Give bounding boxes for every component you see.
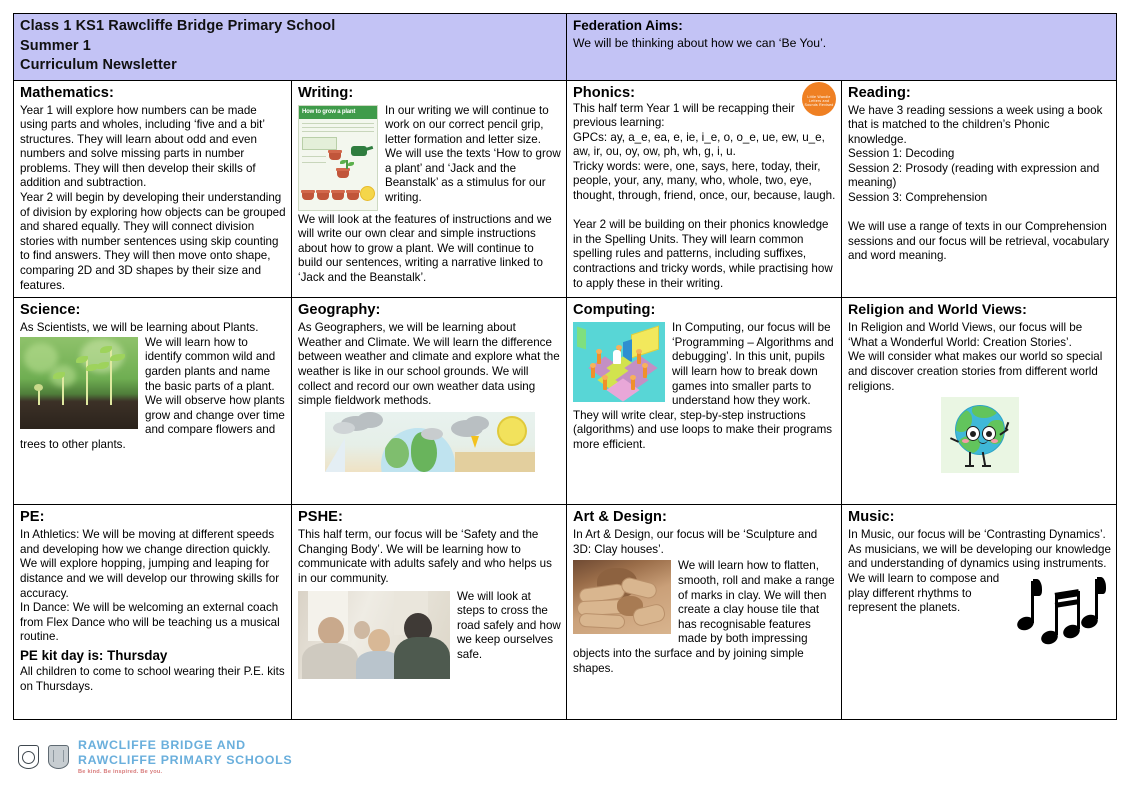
art-title: Art & Design:: [573, 508, 836, 527]
geography-title: Geography:: [298, 301, 561, 320]
page-title-line-3: Curriculum Newsletter: [20, 56, 561, 76]
logo-line-1: RAWCLIFFE BRIDGE AND: [78, 738, 292, 753]
seedlings-photo: [20, 337, 138, 429]
cell-reading: Reading: We have 3 reading sessions a we…: [842, 80, 1117, 298]
reading-paragraph-1: We have 3 reading sessions a week using …: [848, 104, 1111, 148]
phonics-paragraph-4: Year 2 will be building on their phonics…: [573, 218, 836, 291]
weather-and-climate-illustration: [325, 412, 535, 472]
science-title: Science:: [20, 301, 286, 320]
cell-phonics: Phonics: Little Wandle Letters and Sound…: [567, 80, 842, 298]
subject-row-3: PE: In Athletics: We will be moving at d…: [14, 505, 1117, 720]
reading-session-3: Session 3: Comprehension: [848, 191, 1111, 206]
phonics-paragraph-2: GPCs: ay, a_e, ea, e, ie, i_e, o, o_e, u…: [573, 131, 836, 160]
little-wandle-logo-label: Little Wandle Letters and Sounds Revised: [805, 95, 834, 108]
pshe-title: PSHE:: [298, 508, 561, 527]
science-intro: As Scientists, we will be learning about…: [20, 321, 286, 336]
smiling-earth-icon: [941, 397, 1019, 473]
pe-kit-day: PE kit day is: Thursday: [20, 647, 286, 665]
art-intro: In Art & Design, our focus will be ‘Scul…: [573, 528, 836, 557]
music-notes-icon: [1015, 573, 1111, 653]
page-title-line-1: Class 1 KS1 Rawcliffe Bridge Primary Sch…: [20, 17, 561, 37]
reading-session-2: Session 2: Prosody (reading with express…: [848, 162, 1111, 191]
writing-below-text: We will look at the features of instruct…: [298, 213, 561, 286]
reading-session-1: Session 1: Decoding: [848, 147, 1111, 162]
cell-pshe: PSHE: This half term, our focus will be …: [292, 505, 567, 720]
clay-hands-photo: [573, 560, 671, 634]
phonics-paragraph-1: This half term Year 1 will be recapping …: [573, 102, 836, 131]
pe-title: PE:: [20, 508, 286, 527]
poster-caption: How to grow a plant: [302, 109, 355, 115]
little-wandle-logo-icon: Little Wandle Letters and Sounds Revised: [802, 82, 836, 116]
cell-computing: Computing:: [567, 298, 842, 505]
music-paragraph-1: In Music, our focus will be ‘Contrasting…: [848, 528, 1111, 572]
writing-title: Writing:: [298, 84, 561, 103]
header-row: Class 1 KS1 Rawcliffe Bridge Primary Sch…: [14, 14, 1117, 81]
federation-aims-title: Federation Aims:: [573, 17, 1111, 35]
cell-mathematics: Mathematics: Year 1 will explore how num…: [14, 80, 292, 298]
logo-tagline: Be kind. Be inspired. Be you.: [78, 770, 292, 776]
music-title: Music:: [848, 508, 1111, 527]
subject-row-2: Science: As Scientists, we will be learn…: [14, 298, 1117, 505]
mathematics-title: Mathematics:: [20, 84, 286, 103]
mathematics-paragraph-2: Year 2 will begin by developing their un…: [20, 191, 286, 293]
computing-title: Computing:: [573, 301, 836, 320]
geography-text: As Geographers, we will be learning abou…: [298, 321, 561, 409]
school-crest-icon-2: [48, 745, 69, 769]
religion-paragraph-1: In Religion and World Views, our focus w…: [848, 321, 1111, 350]
curriculum-grid: Class 1 KS1 Rawcliffe Bridge Primary Sch…: [13, 13, 1117, 720]
phonics-paragraph-3: Tricky words: were, one, says, here, tod…: [573, 160, 836, 204]
how-to-grow-a-plant-poster-image: How to grow a plant: [298, 105, 378, 211]
religion-title: Religion and World Views:: [848, 301, 1111, 320]
pe-kit-note: All children to come to school wearing t…: [20, 665, 286, 694]
school-logo-footer: RAWCLIFFE BRIDGE AND RAWCLIFFE PRIMARY S…: [18, 738, 292, 775]
religion-paragraph-2: We will consider what makes our world so…: [848, 350, 1111, 394]
reading-paragraph-2: We will use a range of texts in our Comp…: [848, 220, 1111, 264]
cell-pe: PE: In Athletics: We will be moving at d…: [14, 505, 292, 720]
cell-religion: Religion and World Views: In Religion an…: [842, 298, 1117, 505]
subject-row-1: Mathematics: Year 1 will explore how num…: [14, 80, 1117, 298]
federation-aims-cell: Federation Aims: We will be thinking abo…: [567, 14, 1117, 81]
computing-game-illustration: [573, 322, 665, 402]
newsletter-page: Class 1 KS1 Rawcliffe Bridge Primary Sch…: [0, 0, 1128, 788]
mathematics-paragraph-1: Year 1 will explore how numbers can be m…: [20, 104, 286, 192]
pshe-intro: This half term, our focus will be ‘Safet…: [298, 528, 561, 586]
cell-art: Art & Design: In Art & Design, our focus…: [567, 505, 842, 720]
cell-geography: Geography: As Geographers, we will be le…: [292, 298, 567, 505]
cell-music: Music: In Music, our focus will be ‘Cont…: [842, 505, 1117, 720]
logo-line-2: RAWCLIFFE PRIMARY SCHOOLS: [78, 753, 292, 768]
family-talking-photo: [298, 591, 450, 679]
cell-writing: Writing: How to grow a plant: [292, 80, 567, 298]
reading-title: Reading:: [848, 84, 1111, 103]
phonics-title: Phonics:: [573, 84, 836, 103]
pe-paragraph-1: In Athletics: We will be moving at diffe…: [20, 528, 286, 601]
federation-aims-text: We will be thinking about how we can ‘Be…: [573, 35, 1111, 51]
school-crest-icon-1: [18, 745, 39, 769]
page-title-line-2: Summer 1: [20, 37, 561, 57]
cell-science: Science: As Scientists, we will be learn…: [14, 298, 292, 505]
newsletter-title-cell: Class 1 KS1 Rawcliffe Bridge Primary Sch…: [14, 14, 567, 81]
pe-paragraph-2: In Dance: We will be welcoming an extern…: [20, 601, 286, 645]
